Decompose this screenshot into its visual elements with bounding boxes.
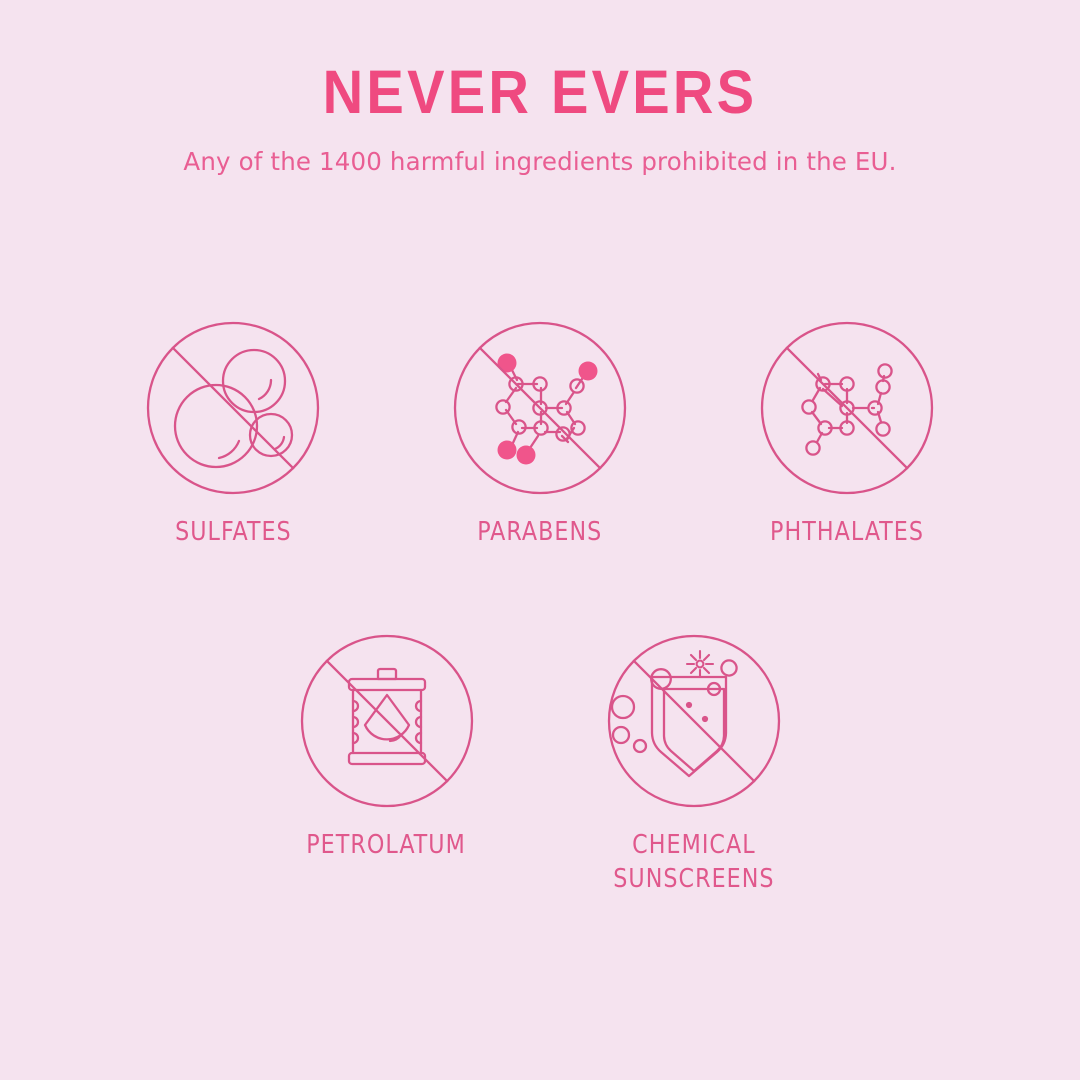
never-ever-item-sulfates: SULFATES [130,318,337,550]
never-ever-label: PARABENS [477,515,602,550]
grid-row: SULFATES [0,318,1080,550]
never-ever-label: CHEMICAL SUNSCREENS [613,828,774,897]
never-ever-item-petrolatum: PETROLATUM [283,631,490,863]
page-subtitle: Any of the 1400 harmful ingredients proh… [0,123,1080,175]
no-molecule-outline-icon [757,318,937,498]
never-evers-grid: SULFATES [0,318,1080,897]
header: NEVER EVERS Any of the 1400 harmful ingr… [0,62,1080,175]
never-ever-item-parabens: PARABENS [437,318,644,550]
no-bubbles-icon [143,318,323,498]
never-ever-item-chemical-sunscreens: CHEMICAL SUNSCREENS [590,631,797,897]
never-ever-item-phthalates: PHTHALATES [744,318,951,550]
never-ever-label: SULFATES [175,515,292,550]
never-ever-label: PHTHALATES [770,515,924,550]
grid-row: PETROLATUM [0,631,1080,897]
page-title: NEVER EVERS [43,62,1037,123]
no-chemical-sunscreen-icon [604,631,784,811]
never-evers-infographic: NEVER EVERS Any of the 1400 harmful ingr… [0,0,1080,1080]
no-molecule-filled-icon [450,318,630,498]
no-oil-barrel-icon [297,631,477,811]
never-ever-label: PETROLATUM [307,828,467,863]
